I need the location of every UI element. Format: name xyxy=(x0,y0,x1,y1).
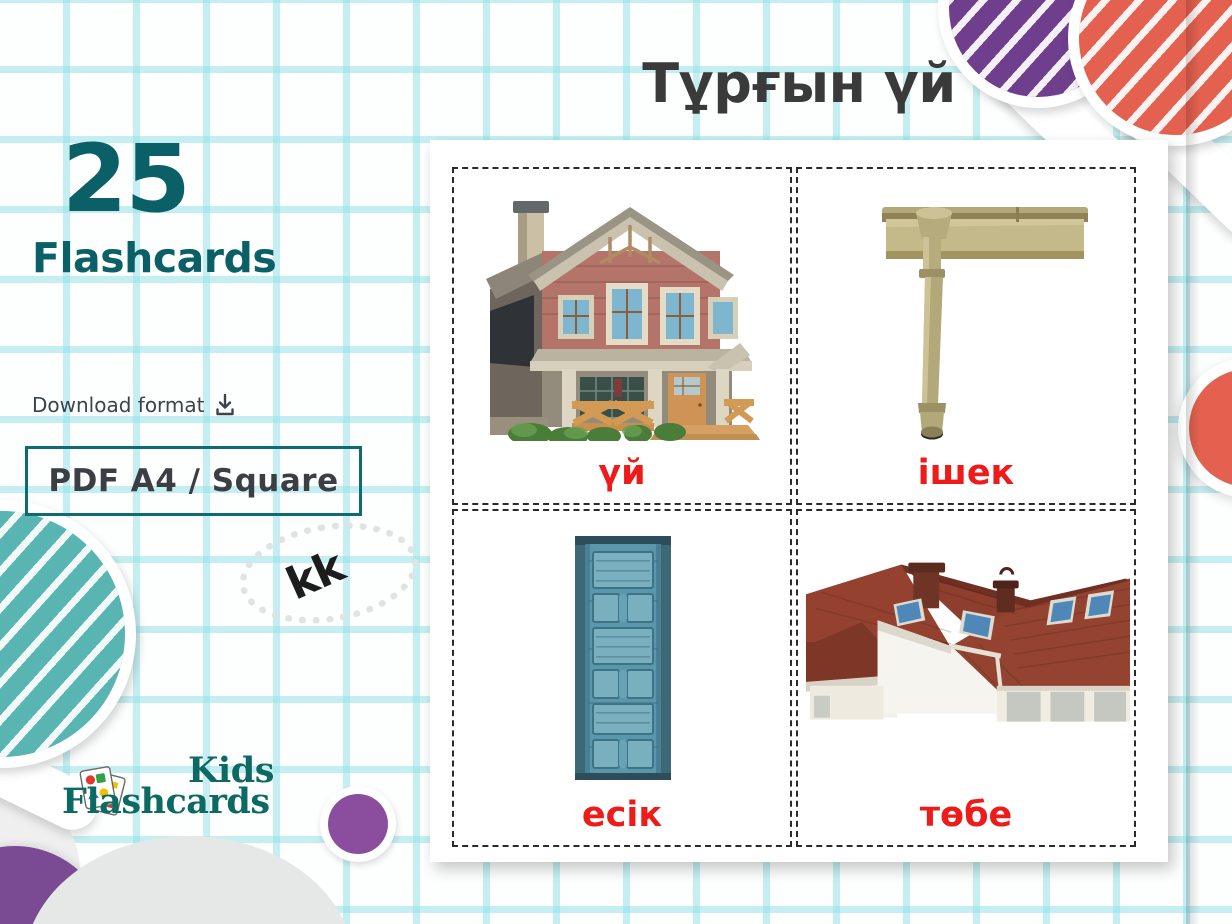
roof-image xyxy=(802,517,1130,798)
right-edge-shadow-band xyxy=(1186,0,1200,924)
pdf-format-button[interactable]: PDF A4 / Square xyxy=(25,446,362,516)
page-title: Тұрғын үй xyxy=(430,52,1168,115)
brand-line-flashcards: Flashcards xyxy=(62,787,274,818)
brand-wordmark: Kids Flashcards xyxy=(134,756,274,818)
flashcard-door[interactable]: есік xyxy=(452,509,792,847)
flashcard-house[interactable]: үй xyxy=(452,167,792,505)
flashcard-count-number: 25 xyxy=(62,133,189,227)
flashcard-word: ішек xyxy=(918,456,1015,491)
flashcard-grid: үй xyxy=(452,167,1136,847)
purple-wedge-decoration xyxy=(0,846,110,924)
door-image xyxy=(458,517,786,798)
purple-dot-decoration xyxy=(320,786,396,862)
pdf-format-button-label: PDF A4 / Square xyxy=(48,463,338,499)
brand-logo[interactable]: Kids Flashcards xyxy=(72,756,274,822)
flashcard-word: үй xyxy=(598,456,645,491)
flashcard-roof[interactable]: төбе xyxy=(796,509,1136,847)
download-icon[interactable] xyxy=(214,393,236,417)
flashcard-word: есік xyxy=(582,798,662,833)
flashcard-word: төбе xyxy=(920,798,1013,833)
gutter-image xyxy=(802,175,1130,456)
grey-blob-decoration xyxy=(24,836,354,924)
language-badge: kk xyxy=(239,524,419,622)
flashcard-gutter[interactable]: ішек xyxy=(796,167,1136,505)
flashcard-sheet: үй xyxy=(430,140,1168,862)
right-edge-coral-circle xyxy=(1178,358,1232,498)
download-format-label: Download format xyxy=(32,393,205,417)
flashcard-count-label: Flashcards xyxy=(32,238,276,279)
house-image xyxy=(458,175,786,456)
download-format-row: Download format xyxy=(32,393,236,417)
page-root: 25 Flashcards Download format PDF A4 / S… xyxy=(0,0,1232,924)
teal-circle-decoration xyxy=(0,500,136,768)
